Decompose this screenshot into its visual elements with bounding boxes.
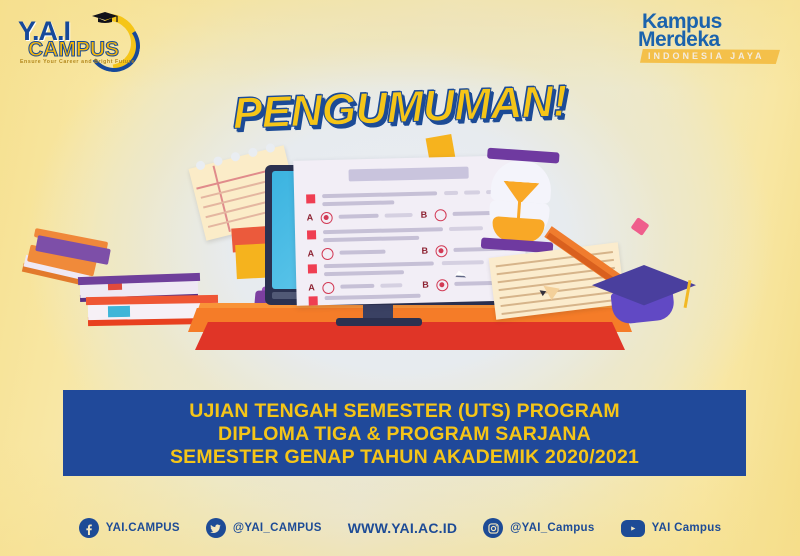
website-url: WWW.YAI.AC.ID	[348, 520, 457, 536]
exam-option-b-2: B	[421, 246, 428, 256]
kampus-merdeka-logo: Kampus Merdeka INDONESIA JAYA	[634, 6, 784, 68]
facebook-handle: YAI.CAMPUS	[106, 522, 180, 534]
twitter-handle: @YAI_CAMPUS	[233, 522, 322, 534]
footer-item-youtube[interactable]: YAI Campus	[621, 520, 722, 537]
youtube-handle: YAI Campus	[652, 522, 722, 534]
exam-option-b-3: B	[422, 280, 429, 290]
exam-radio-a-1[interactable]	[321, 212, 333, 224]
announcement-banner: UJIAN TENGAH SEMESTER (UTS) PROGRAM DIPL…	[63, 390, 746, 476]
twitter-icon	[206, 518, 226, 538]
exam-option-b-1: B	[420, 210, 427, 220]
announcement-poster: Y.A.I CAMPUS Ensure Your Career and Brig…	[0, 0, 800, 556]
banner-line-1: UJIAN TENGAH SEMESTER (UTS) PROGRAM	[63, 400, 746, 423]
monitor-foot	[336, 318, 422, 326]
exam-radio-a-3[interactable]	[322, 282, 334, 294]
yai-campus-logo: Y.A.I CAMPUS Ensure Your Career and Brig…	[14, 6, 144, 68]
exam-option-a-3: A	[308, 282, 315, 292]
exam-radio-b-1[interactable]	[434, 209, 446, 221]
footer-item-twitter[interactable]: @YAI_CAMPUS	[206, 518, 322, 538]
exam-illustration: A B A B A B	[0, 140, 800, 390]
facebook-icon	[79, 518, 99, 538]
km-line2: Merdeka	[638, 28, 720, 52]
logo-tagline: Ensure Your Career and Bright Future	[20, 59, 135, 65]
exam-title-block	[348, 167, 468, 182]
exam-option-a-1: A	[307, 212, 314, 222]
social-footer: YAI.CAMPUS @YAI_CAMPUS WWW.YAI.AC.ID	[0, 476, 800, 556]
instagram-handle: @YAI_Campus	[510, 522, 594, 534]
banner-line-3: SEMESTER GENAP TAHUN AKADEMIK 2020/2021	[63, 446, 746, 469]
desk-front	[195, 322, 625, 350]
km-line3: INDONESIA JAYA	[648, 51, 765, 61]
exam-radio-a-2[interactable]	[321, 248, 333, 260]
mouse-cursor-icon	[455, 271, 466, 281]
instagram-icon	[483, 518, 503, 538]
banner-line-2: DIPLOMA TIGA & PROGRAM SARJANA	[63, 423, 746, 446]
footer-item-website[interactable]: WWW.YAI.AC.ID	[348, 520, 457, 536]
footer-item-facebook[interactable]: YAI.CAMPUS	[79, 518, 180, 538]
hourglass-icon	[476, 145, 563, 260]
exam-radio-b-3[interactable]	[436, 279, 448, 291]
graduation-cap-icon	[92, 10, 118, 21]
exam-option-a-2: A	[307, 248, 314, 258]
exam-radio-b-2[interactable]	[435, 245, 447, 257]
footer-item-instagram[interactable]: @YAI_Campus	[483, 518, 594, 538]
youtube-icon	[621, 520, 645, 537]
